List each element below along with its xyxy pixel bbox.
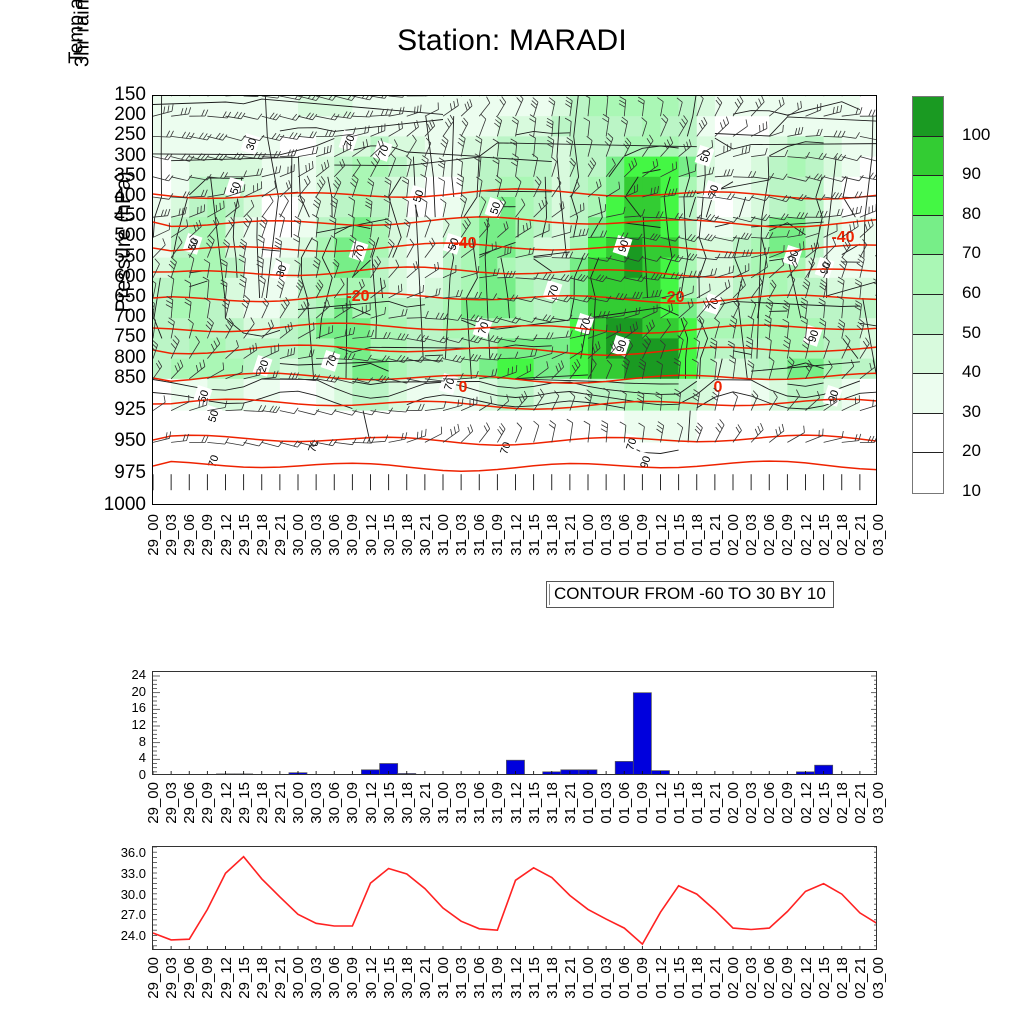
colorbar-label-10: 10 bbox=[962, 481, 981, 501]
contour-note: CONTOUR FROM -60 TO 30 BY 10 bbox=[546, 581, 834, 608]
colorbar-band-60 bbox=[913, 255, 943, 295]
main-ytick-150: 150 bbox=[86, 85, 146, 104]
main-xtick-29_21: 29_21 bbox=[272, 514, 289, 556]
rain-xtick-29_00: 29_00 bbox=[145, 782, 162, 824]
temp-xtick-29_21: 29_21 bbox=[272, 957, 289, 999]
temp-xtick-29_06: 29_06 bbox=[181, 957, 198, 999]
main-xtick-30_00: 30_00 bbox=[290, 514, 307, 556]
temp-xtick-31_15: 31_15 bbox=[526, 957, 543, 999]
temp-xtick-30_15: 30_15 bbox=[381, 957, 398, 999]
temp-xtick-01_09: 01_09 bbox=[634, 957, 651, 999]
rain-xtick-29_03: 29_03 bbox=[163, 782, 180, 824]
main-xtick-30_06: 30_06 bbox=[326, 514, 343, 556]
temp-xtick-31_18: 31_18 bbox=[544, 957, 561, 999]
rain-xtick-01_00: 01_00 bbox=[580, 782, 597, 824]
temp-yaxis-ticks: 24.027.030.033.036.0 bbox=[94, 846, 146, 950]
rain-xtick-30_12: 30_12 bbox=[363, 782, 380, 824]
temp-ytick-33.0: 33.0 bbox=[94, 867, 146, 880]
rain-xtick-30_09: 30_09 bbox=[344, 782, 361, 824]
main-xtick-29_06: 29_06 bbox=[181, 514, 198, 556]
main-ytick-950: 950 bbox=[86, 431, 146, 450]
temp-xtick-01_15: 01_15 bbox=[671, 957, 688, 999]
colorbar-label-60: 60 bbox=[962, 283, 981, 303]
main-xtick-31_03: 31_03 bbox=[453, 514, 470, 556]
main-xtick-30_18: 30_18 bbox=[399, 514, 416, 556]
temp-xtick-01_21: 01_21 bbox=[707, 957, 724, 999]
page-title: Station: MARADI bbox=[0, 24, 1024, 58]
rain-xtick-31_18: 31_18 bbox=[544, 782, 561, 824]
colorbar bbox=[912, 96, 944, 494]
main-xtick-30_21: 30_21 bbox=[417, 514, 434, 556]
temp-xtick-01_03: 01_03 bbox=[598, 957, 615, 999]
rain-xtick-02_03: 02_03 bbox=[743, 782, 760, 824]
main-xtick-02_03: 02_03 bbox=[743, 514, 760, 556]
temp-xtick-29_18: 29_18 bbox=[254, 957, 271, 999]
rain-xtick-02_00: 02_00 bbox=[725, 782, 742, 824]
main-ytick-800: 800 bbox=[86, 348, 146, 367]
main-xtick-29_12: 29_12 bbox=[218, 514, 235, 556]
colorbar-band-30 bbox=[913, 374, 943, 414]
colorbar-band-80 bbox=[913, 176, 943, 216]
rain-xtick-01_21: 01_21 bbox=[707, 782, 724, 824]
rain-xaxis-ticks: 29_0029_0329_0629_0929_1229_1529_1829_21… bbox=[152, 780, 877, 838]
temp-xtick-31_12: 31_12 bbox=[508, 957, 525, 999]
rain-xtick-31_03: 31_03 bbox=[453, 782, 470, 824]
colorbar-band-20 bbox=[913, 414, 943, 454]
rain-xtick-31_09: 31_09 bbox=[489, 782, 506, 824]
temp-xtick-01_06: 01_06 bbox=[616, 957, 633, 999]
main-xtick-30_09: 30_09 bbox=[344, 514, 361, 556]
main-ytick-550: 550 bbox=[86, 247, 146, 266]
rain-plot-svg bbox=[153, 672, 877, 775]
main-ytick-700: 700 bbox=[86, 307, 146, 326]
sounding-time-height-panel: 3030505070705070707050507070707070909070… bbox=[152, 95, 877, 505]
sounding-plot-svg: 3030505070705070707050507070707070909070… bbox=[153, 96, 877, 505]
main-xtick-02_09: 02_09 bbox=[779, 514, 796, 556]
rain-xtick-01_18: 01_18 bbox=[689, 782, 706, 824]
temp-xtick-02_12: 02_12 bbox=[798, 957, 815, 999]
colorbar-band-50 bbox=[913, 295, 943, 335]
main-xtick-31_09: 31_09 bbox=[489, 514, 506, 556]
temp-xtick-30_03: 30_03 bbox=[308, 957, 325, 999]
main-xtick-02_06: 02_06 bbox=[761, 514, 778, 556]
rain-xtick-02_06: 02_06 bbox=[761, 782, 778, 824]
main-xtick-01_09: 01_09 bbox=[634, 514, 651, 556]
main-ytick-250: 250 bbox=[86, 125, 146, 144]
colorbar-label-50: 50 bbox=[962, 323, 981, 343]
main-xtick-01_15: 01_15 bbox=[671, 514, 688, 556]
rain-xtick-02_09: 02_09 bbox=[779, 782, 796, 824]
rain-xtick-31_12: 31_12 bbox=[508, 782, 525, 824]
main-xtick-01_06: 01_06 bbox=[616, 514, 633, 556]
rain-ytick-24: 24 bbox=[100, 668, 146, 681]
temp-xtick-02_06: 02_06 bbox=[761, 957, 778, 999]
main-xtick-03_00: 03_00 bbox=[870, 514, 887, 556]
rain-xtick-30_18: 30_18 bbox=[399, 782, 416, 824]
temp-xtick-29_09: 29_09 bbox=[199, 957, 216, 999]
temp-xtick-03_00: 03_00 bbox=[870, 957, 887, 999]
main-xtick-29_18: 29_18 bbox=[254, 514, 271, 556]
rain-xtick-01_15: 01_15 bbox=[671, 782, 688, 824]
main-xtick-01_12: 01_12 bbox=[653, 514, 670, 556]
temp-xtick-30_12: 30_12 bbox=[363, 957, 380, 999]
main-ytick-300: 300 bbox=[86, 146, 146, 165]
rain-xtick-01_09: 01_09 bbox=[634, 782, 651, 824]
svg-text:0: 0 bbox=[459, 379, 468, 396]
rain-ytick-0: 0 bbox=[100, 768, 146, 781]
main-ytick-650: 650 bbox=[86, 287, 146, 306]
colorbar-label-90: 90 bbox=[962, 164, 981, 184]
main-ytick-975: 975 bbox=[86, 463, 146, 482]
rain-xtick-29_09: 29_09 bbox=[199, 782, 216, 824]
rain-xtick-31_06: 31_06 bbox=[471, 782, 488, 824]
rain-xtick-30_03: 30_03 bbox=[308, 782, 325, 824]
rain-xtick-31_15: 31_15 bbox=[526, 782, 543, 824]
main-yaxis-ticks: 1502002503003504004505005506006507007508… bbox=[82, 95, 146, 505]
rain-xtick-31_00: 31_00 bbox=[435, 782, 452, 824]
temp-xtick-01_12: 01_12 bbox=[653, 957, 670, 999]
colorbar-band-70 bbox=[913, 216, 943, 256]
rain-xtick-29_12: 29_12 bbox=[218, 782, 235, 824]
chart-page: Station: MARADI 303050507070507070705050… bbox=[0, 0, 1024, 1024]
temp-xtick-31_06: 31_06 bbox=[471, 957, 488, 999]
temp-xtick-31_21: 31_21 bbox=[562, 957, 579, 999]
colorbar-band-40 bbox=[913, 335, 943, 375]
rain-xtick-01_03: 01_03 bbox=[598, 782, 615, 824]
temp-xtick-31_03: 31_03 bbox=[453, 957, 470, 999]
main-ytick-600: 600 bbox=[86, 267, 146, 286]
temp-xtick-02_21: 02_21 bbox=[852, 957, 869, 999]
main-xtick-02_21: 02_21 bbox=[852, 514, 869, 556]
rain-ytick-8: 8 bbox=[100, 735, 146, 748]
main-xtick-02_15: 02_15 bbox=[816, 514, 833, 556]
rain-xtick-29_18: 29_18 bbox=[254, 782, 271, 824]
colorbar-band-10 bbox=[913, 453, 943, 493]
temp-xtick-30_00: 30_00 bbox=[290, 957, 307, 999]
main-xtick-02_00: 02_00 bbox=[725, 514, 742, 556]
rain-xtick-03_00: 03_00 bbox=[870, 782, 887, 824]
temp-ytick-24.0: 24.0 bbox=[94, 929, 146, 942]
rain-yaxis-ticks: 04812162024 bbox=[100, 671, 146, 775]
main-xtick-29_15: 29_15 bbox=[236, 514, 253, 556]
main-xtick-31_18: 31_18 bbox=[544, 514, 561, 556]
temp-xtick-30_06: 30_06 bbox=[326, 957, 343, 999]
temp-xaxis-ticks: 29_0029_0329_0629_0929_1229_1529_1829_21… bbox=[152, 955, 877, 1013]
rain-xtick-02_15: 02_15 bbox=[816, 782, 833, 824]
temp-yaxis-label: Temp at 2m bbox=[66, 0, 89, 107]
rain-xtick-30_00: 30_00 bbox=[290, 782, 307, 824]
temp-xtick-31_00: 31_00 bbox=[435, 957, 452, 999]
main-ytick-1000: 1000 bbox=[86, 495, 146, 514]
temp-panel bbox=[152, 846, 877, 950]
rain-ytick-20: 20 bbox=[100, 685, 146, 698]
temp-xtick-02_15: 02_15 bbox=[816, 957, 833, 999]
rain-xtick-02_21: 02_21 bbox=[852, 782, 869, 824]
temp-ytick-30.0: 30.0 bbox=[94, 888, 146, 901]
rain-xtick-02_12: 02_12 bbox=[798, 782, 815, 824]
temp-xtick-30_18: 30_18 bbox=[399, 957, 416, 999]
rain-xtick-29_06: 29_06 bbox=[181, 782, 198, 824]
main-xtick-01_03: 01_03 bbox=[598, 514, 615, 556]
main-ytick-200: 200 bbox=[86, 105, 146, 124]
colorbar-label-70: 70 bbox=[962, 243, 981, 263]
temp-xtick-29_00: 29_00 bbox=[145, 957, 162, 999]
colorbar-label-20: 20 bbox=[962, 441, 981, 461]
rain-xtick-02_18: 02_18 bbox=[834, 782, 851, 824]
temp-xtick-30_21: 30_21 bbox=[417, 957, 434, 999]
svg-text:-20: -20 bbox=[661, 289, 684, 306]
rain-xtick-30_21: 30_21 bbox=[417, 782, 434, 824]
main-ytick-750: 750 bbox=[86, 327, 146, 346]
temp-plot-svg bbox=[153, 847, 877, 950]
main-xtick-31_00: 31_00 bbox=[435, 514, 452, 556]
main-ytick-925: 925 bbox=[86, 400, 146, 419]
main-xtick-31_12: 31_12 bbox=[508, 514, 525, 556]
main-xtick-30_12: 30_12 bbox=[363, 514, 380, 556]
main-xtick-29_00: 29_00 bbox=[145, 514, 162, 556]
colorbar-band-90 bbox=[913, 137, 943, 177]
main-xtick-01_00: 01_00 bbox=[580, 514, 597, 556]
temp-xtick-02_18: 02_18 bbox=[834, 957, 851, 999]
rain-xtick-01_12: 01_12 bbox=[653, 782, 670, 824]
main-xtick-30_15: 30_15 bbox=[381, 514, 398, 556]
rain-ytick-16: 16 bbox=[100, 701, 146, 714]
rain-xtick-31_21: 31_21 bbox=[562, 782, 579, 824]
temp-xtick-31_09: 31_09 bbox=[489, 957, 506, 999]
main-xaxis-ticks: 29_0029_0329_0629_0929_1229_1529_1829_21… bbox=[152, 512, 877, 576]
main-xtick-01_21: 01_21 bbox=[707, 514, 724, 556]
main-xtick-30_03: 30_03 bbox=[308, 514, 325, 556]
main-ytick-400: 400 bbox=[86, 186, 146, 205]
temp-xtick-01_00: 01_00 bbox=[580, 957, 597, 999]
colorbar-band-100 bbox=[913, 97, 943, 137]
temp-ytick-36.0: 36.0 bbox=[94, 846, 146, 859]
main-xtick-29_09: 29_09 bbox=[199, 514, 216, 556]
rain-panel bbox=[152, 671, 877, 775]
temp-xtick-02_00: 02_00 bbox=[725, 957, 742, 999]
temp-xtick-01_18: 01_18 bbox=[689, 957, 706, 999]
main-xtick-02_12: 02_12 bbox=[798, 514, 815, 556]
temp-xtick-02_09: 02_09 bbox=[779, 957, 796, 999]
rain-xtick-01_06: 01_06 bbox=[616, 782, 633, 824]
colorbar-label-80: 80 bbox=[962, 204, 981, 224]
rain-xtick-29_21: 29_21 bbox=[272, 782, 289, 824]
rain-ytick-12: 12 bbox=[100, 718, 146, 731]
main-ytick-350: 350 bbox=[86, 166, 146, 185]
rain-xtick-29_15: 29_15 bbox=[236, 782, 253, 824]
main-xtick-01_18: 01_18 bbox=[689, 514, 706, 556]
main-xtick-02_18: 02_18 bbox=[834, 514, 851, 556]
temp-ytick-27.0: 27.0 bbox=[94, 908, 146, 921]
colorbar-label-100: 100 bbox=[962, 125, 990, 145]
colorbar-label-30: 30 bbox=[962, 402, 981, 422]
rain-xtick-30_06: 30_06 bbox=[326, 782, 343, 824]
main-ytick-450: 450 bbox=[86, 206, 146, 225]
temp-xtick-29_15: 29_15 bbox=[236, 957, 253, 999]
rain-xtick-30_15: 30_15 bbox=[381, 782, 398, 824]
main-xtick-29_03: 29_03 bbox=[163, 514, 180, 556]
main-ytick-500: 500 bbox=[86, 226, 146, 245]
main-xtick-31_21: 31_21 bbox=[562, 514, 579, 556]
main-xtick-31_15: 31_15 bbox=[526, 514, 543, 556]
main-xtick-31_06: 31_06 bbox=[471, 514, 488, 556]
temp-xtick-29_12: 29_12 bbox=[218, 957, 235, 999]
rain-ytick-4: 4 bbox=[100, 751, 146, 764]
temp-xtick-29_03: 29_03 bbox=[163, 957, 180, 999]
temp-xtick-30_09: 30_09 bbox=[344, 957, 361, 999]
temp-xtick-02_03: 02_03 bbox=[743, 957, 760, 999]
colorbar-label-40: 40 bbox=[962, 362, 981, 382]
main-ytick-850: 850 bbox=[86, 368, 146, 387]
